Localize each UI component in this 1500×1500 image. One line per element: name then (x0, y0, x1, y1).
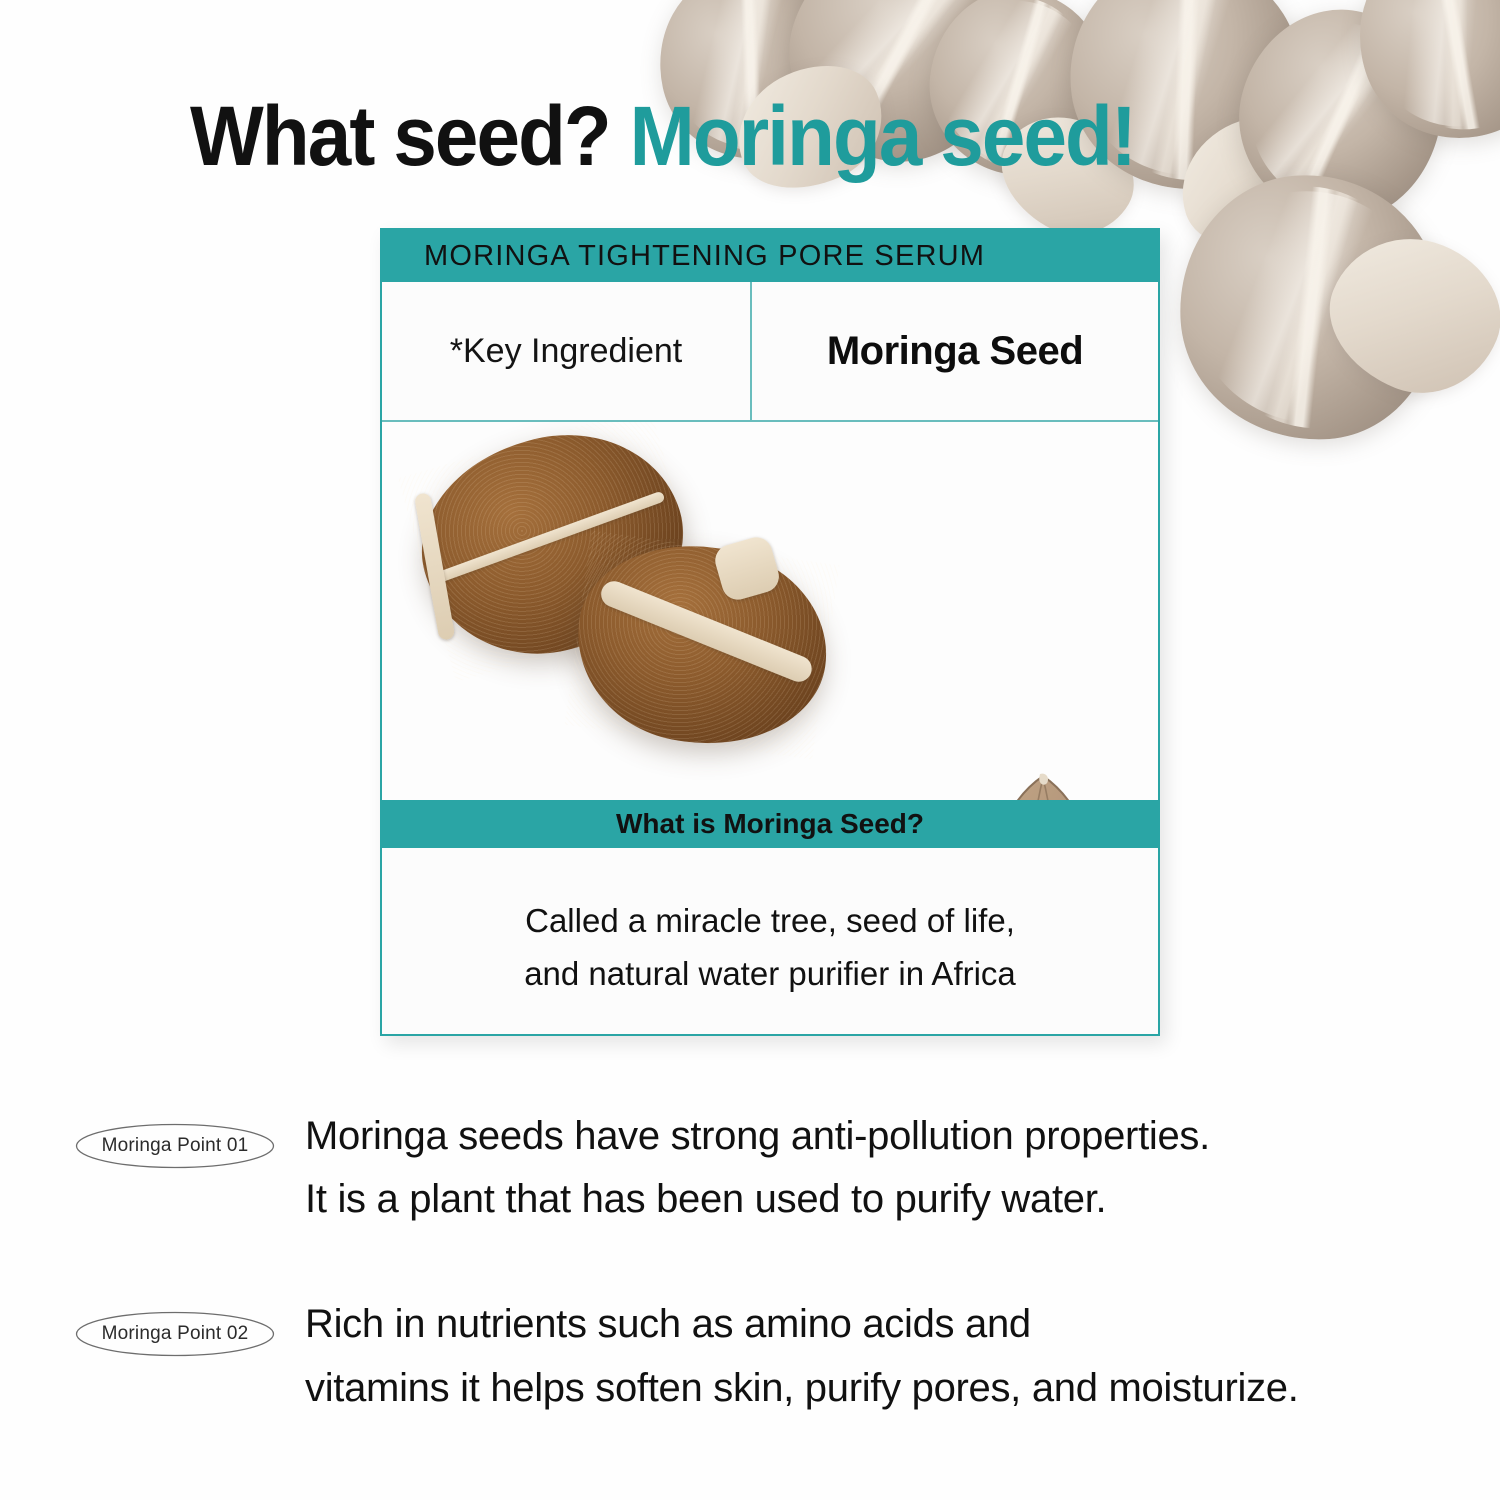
seed-photo-area (382, 422, 1158, 800)
moringa-seed-mascot (958, 770, 1128, 800)
ingredient-row: *Key Ingredient Moringa Seed (382, 282, 1158, 422)
card-description: Called a miracle tree, seed of life, and… (382, 848, 1158, 1001)
point-line: Moringa seeds have strong anti-pollution… (305, 1105, 1210, 1168)
points-section: Moringa Point 01 Moringa seeds have stro… (0, 1105, 1500, 1482)
point-badge-01: Moringa Point 01 (75, 1123, 275, 1169)
card-header: MORINGA TIGHTENING PORE SERUM (382, 230, 1158, 282)
page-title: What seed? Moringa seed! (190, 88, 1135, 185)
point-badge-label: Moringa Point 01 (75, 1123, 275, 1169)
promo-page: What seed? Moringa seed! MORINGA TIGHTEN… (0, 0, 1500, 1500)
point-line: It is a plant that has been used to puri… (305, 1168, 1210, 1231)
what-is-band: What is Moringa Seed? (382, 800, 1158, 848)
page-title-teal: Moringa seed! (630, 89, 1135, 183)
point-item: Moringa Point 02 Rich in nutrients such … (0, 1293, 1500, 1419)
page-title-dark: What seed? (190, 89, 610, 183)
description-line: Called a miracle tree, seed of life, (382, 894, 1158, 947)
ingredient-label: *Key Ingredient (450, 332, 683, 371)
ingredient-value: Moringa Seed (827, 329, 1083, 374)
moringa-seed-photo-bottom (565, 531, 840, 760)
point-text-02: Rich in nutrients such as amino acids an… (305, 1293, 1299, 1419)
point-text-01: Moringa seeds have strong anti-pollution… (305, 1105, 1210, 1231)
description-line: and natural water purifier in Africa (382, 947, 1158, 1000)
point-item: Moringa Point 01 Moringa seeds have stro… (0, 1105, 1500, 1231)
ingredient-value-cell: Moringa Seed (752, 282, 1158, 420)
point-badge-02: Moringa Point 02 (75, 1311, 275, 1357)
card-header-title: MORINGA TIGHTENING PORE SERUM (382, 240, 985, 273)
point-badge-label: Moringa Point 02 (75, 1311, 275, 1357)
point-line: Rich in nutrients such as amino acids an… (305, 1293, 1299, 1356)
point-line: vitamins it helps soften skin, purify po… (305, 1357, 1299, 1420)
ingredient-label-cell: *Key Ingredient (382, 282, 752, 420)
what-is-band-title: What is Moringa Seed? (616, 808, 924, 840)
ingredient-card: MORINGA TIGHTENING PORE SERUM *Key Ingre… (380, 228, 1160, 1036)
